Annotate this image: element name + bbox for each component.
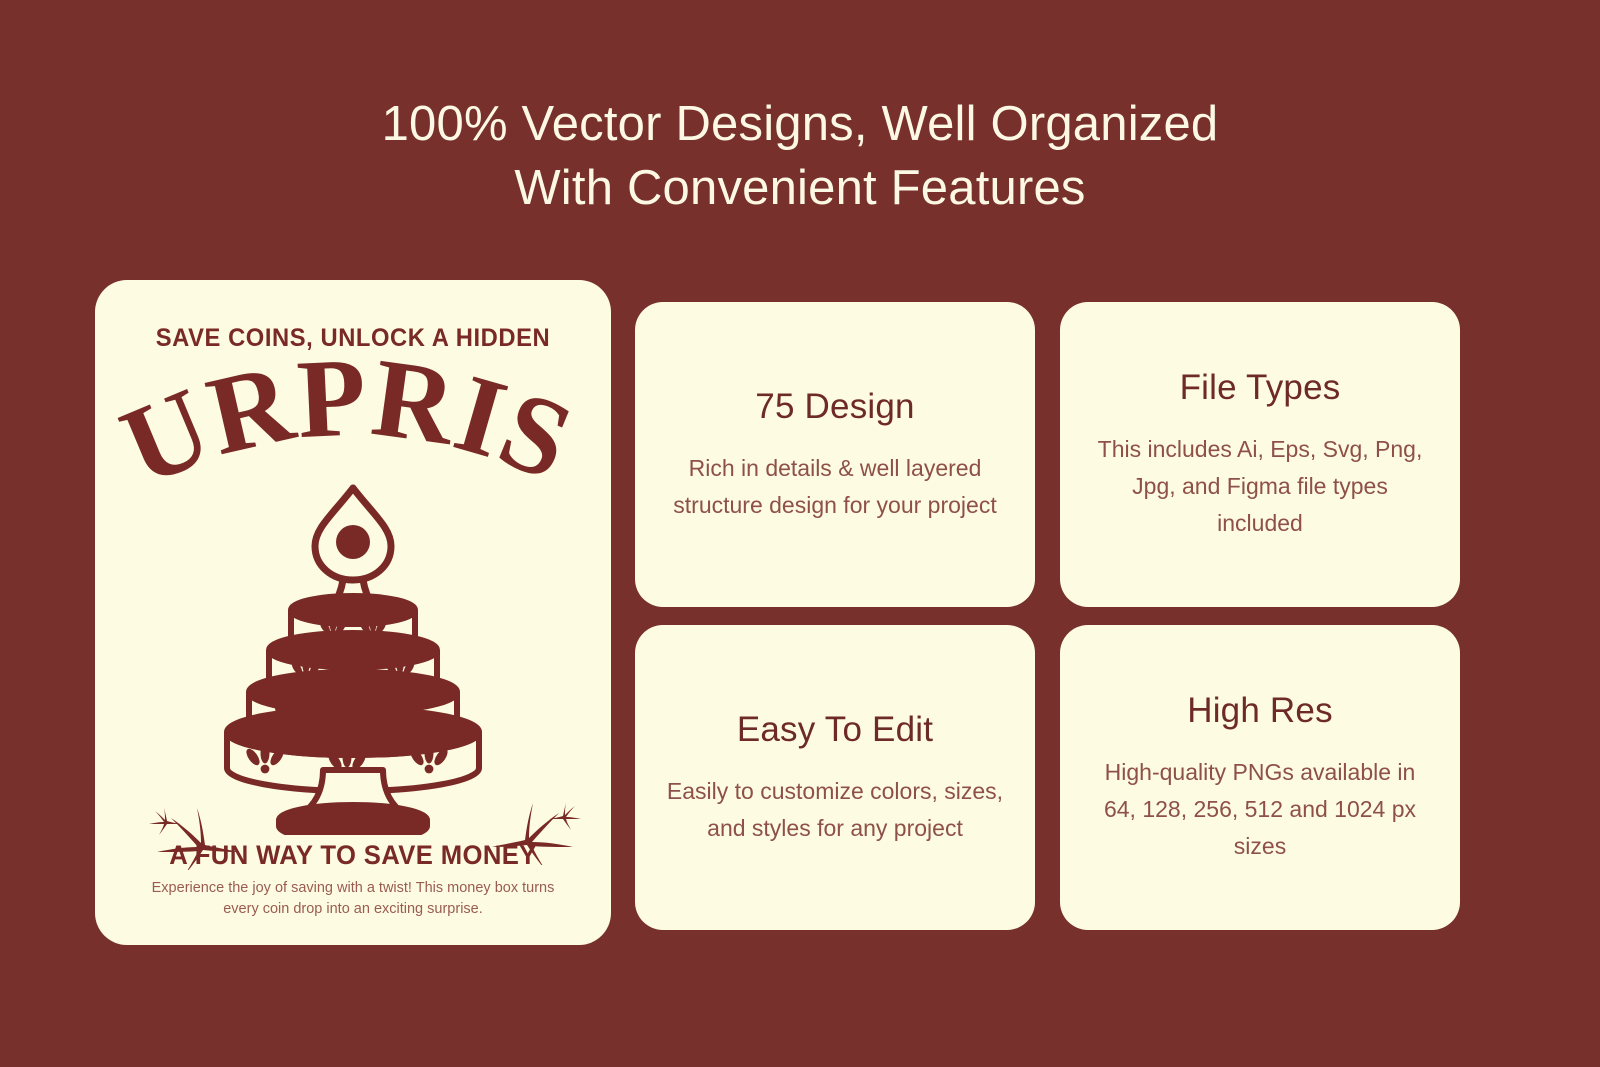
showcase-tagline: A FUN WAY TO SAVE MONEY <box>108 840 598 871</box>
promo-board: 100% Vector Designs, Well Organized With… <box>0 0 1600 1067</box>
feature-title: 75 Design <box>755 386 914 428</box>
product-showcase-card: SAVE COINS, UNLOCK A HIDDEN SURPRISE <box>95 280 611 945</box>
feature-description: High-quality PNGs available in 64, 128, … <box>1090 754 1430 865</box>
showcase-blurb: Experience the joy of saving with a twis… <box>150 878 556 920</box>
feature-card-design: 75 Design Rich in details & well layered… <box>635 302 1035 607</box>
feature-card-high-res: High Res High-quality PNGs available in … <box>1060 625 1460 930</box>
header-line-2: With Convenient Features <box>0 156 1600 220</box>
showcase-content: SAVE COINS, UNLOCK A HIDDEN SURPRISE <box>95 280 611 945</box>
feature-title: Easy To Edit <box>737 709 933 751</box>
feature-description: Easily to customize colors, sizes, and s… <box>665 773 1005 847</box>
page-title: 100% Vector Designs, Well Organized With… <box>0 92 1600 220</box>
feature-title: File Types <box>1180 367 1341 409</box>
feature-card-file-types: File Types This includes Ai, Eps, Svg, P… <box>1060 302 1460 607</box>
header-line-1: 100% Vector Designs, Well Organized <box>0 92 1600 156</box>
feature-card-easy-to-edit: Easy To Edit Easily to customize colors,… <box>635 625 1035 930</box>
feature-description: This includes Ai, Eps, Svg, Png, Jpg, an… <box>1090 431 1430 542</box>
feature-description: Rich in details & well layered structure… <box>665 450 1005 524</box>
tiered-cake-icon <box>183 470 523 835</box>
feature-title: High Res <box>1187 690 1333 732</box>
